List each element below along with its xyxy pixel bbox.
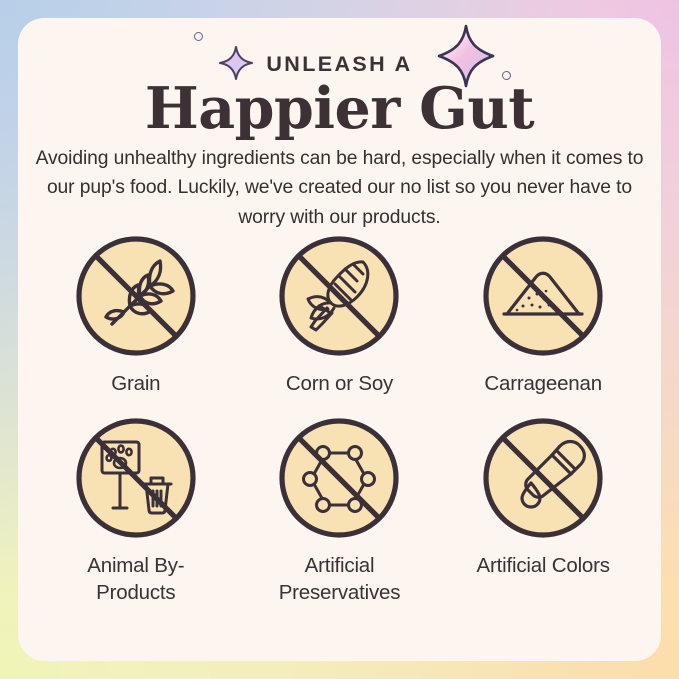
no-list-item-label: Corn or Soy xyxy=(286,370,393,397)
intro-paragraph: Avoiding unhealthy ingredients can be ha… xyxy=(34,144,645,232)
no-list-item-label: Grain xyxy=(111,370,160,397)
no-list-item-label: Carrageenan xyxy=(484,370,601,397)
molecule-hexagon-icon xyxy=(275,414,403,542)
eyebrow-text: UNLEASH A xyxy=(266,52,412,77)
grain-wheat-icon xyxy=(72,232,200,360)
no-list-item-label: Animal By-Products xyxy=(48,552,223,607)
no-list-item-label: Artificial Colors xyxy=(477,552,610,579)
no-list-item-label: Artificial Preservatives xyxy=(252,552,427,607)
corn-cob-icon xyxy=(275,232,403,360)
no-list-grid: Grain xyxy=(34,232,645,607)
powder-pile-icon xyxy=(479,232,607,360)
content-card: UNLEASH A xyxy=(18,18,661,661)
sign-post-trash-icon xyxy=(72,414,200,542)
page-title: Happier Gut xyxy=(18,78,661,139)
no-list-item: Corn or Soy xyxy=(238,232,442,408)
no-list-item: Artificial Preservatives xyxy=(238,414,442,607)
eyedropper-drop-icon xyxy=(479,414,607,542)
infographic-root: UNLEASH A xyxy=(0,0,679,679)
no-list-item: Grain xyxy=(34,232,238,408)
no-list-item: Animal By-Products xyxy=(34,414,238,607)
no-list-item: Artificial Colors xyxy=(441,414,645,607)
no-list-item: Carrageenan xyxy=(441,232,645,408)
ring-dot-left-icon xyxy=(194,32,203,41)
